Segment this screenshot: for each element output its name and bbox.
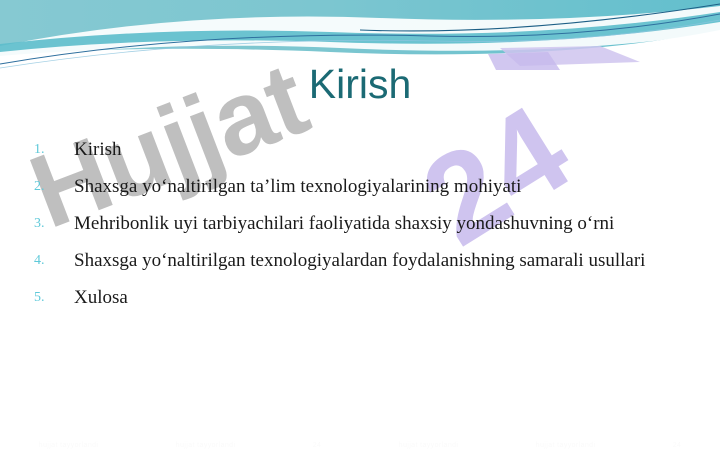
watermark-footer-strip: hujjat tayyorlandi hujjat tayyorlandi 24…	[0, 442, 720, 449]
list-item-label: Shaxsga yo‘naltirilgan texnologiyalardan…	[74, 248, 654, 274]
watermark-footer-item: hujjat tayyorlandi	[536, 442, 596, 449]
list-item-label: Kirish	[74, 137, 654, 163]
list-item: 2. Shaxsga yo‘naltirilgan ta’lim texnolo…	[28, 174, 688, 200]
list-item-number: 5.	[28, 285, 74, 311]
watermark-footer-item: 24	[313, 442, 322, 449]
watermark-footer-item: hujjat tayyorlandi	[39, 442, 99, 449]
numbered-list: 1. Kirish 2. Shaxsga yo‘naltirilgan ta’l…	[28, 137, 688, 322]
list-item-number: 3.	[28, 211, 74, 237]
list-item-label: Xulosa	[74, 285, 654, 311]
watermark-footer-item: 24	[673, 442, 682, 449]
slide-title: Kirish	[0, 62, 720, 107]
list-item-label: Shaxsga yo‘naltirilgan ta’lim texnologiy…	[74, 174, 654, 200]
list-item: 4. Shaxsga yo‘naltirilgan texnologiyalar…	[28, 248, 688, 274]
list-item-label: Mehribonlik uyi tarbiyachilari faoliyati…	[74, 211, 654, 237]
watermark-footer-item: hujjat tayyorlandi	[176, 442, 236, 449]
list-item-number: 2.	[28, 174, 74, 200]
presentation-slide: Hujjat 24 hujjat tayyorlandi hujjat tayy…	[0, 0, 720, 450]
list-item: 1. Kirish	[28, 137, 688, 163]
list-item-number: 1.	[28, 137, 74, 163]
list-item-number: 4.	[28, 248, 74, 274]
list-item: 5. Xulosa	[28, 285, 688, 311]
watermark-footer-item: hujjat tayyorlandi	[399, 442, 459, 449]
list-item: 3. Mehribonlik uyi tarbiyachilari faoliy…	[28, 211, 688, 237]
